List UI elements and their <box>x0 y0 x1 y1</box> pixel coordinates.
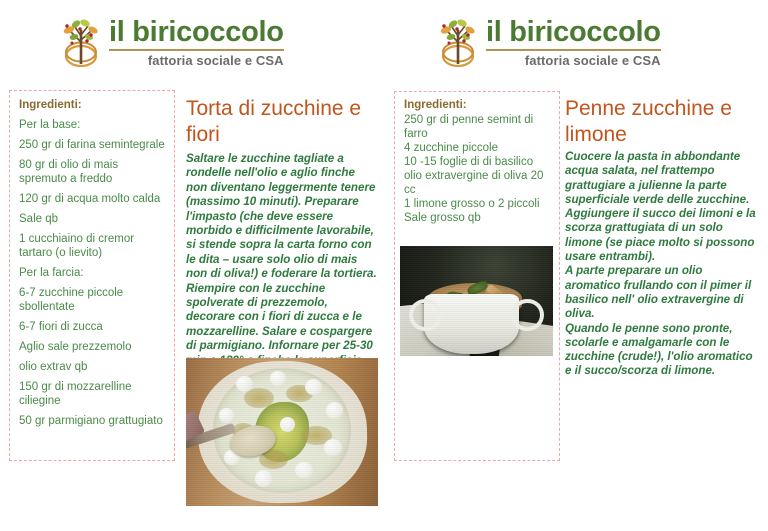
ingredient-item: Per la base: <box>19 118 167 132</box>
ingredients-heading: Ingredienti: <box>19 99 167 111</box>
ingredient-item: Aglio sale prezzemolo <box>19 340 167 354</box>
recipe-text-right: Penne zucchine e limone Cuocere la pasta… <box>565 96 761 379</box>
tree-plant-logo-icon <box>60 16 102 68</box>
recipe-page-right: il biricoccolo fattoria sociale e CSA In… <box>384 0 768 531</box>
ingredient-item: olio extravergine di oliva 20 cc <box>404 169 552 197</box>
ingredient-item: Sale grosso qb <box>404 211 552 225</box>
recipe-instructions: Cuocere la pasta in abbondante acqua sal… <box>565 150 761 379</box>
recipe-text-left: Torta di zucchine e fiori Saltare le zuc… <box>186 96 378 383</box>
ingredient-item: 1 cucchiaino di cremor tartaro (o lievit… <box>19 232 167 260</box>
ingredients-box-left: Ingredienti: Per la base: 250 gr di fari… <box>9 90 175 461</box>
ingredient-item: 250 gr di penne semint di farro <box>404 113 552 141</box>
brand-divider <box>109 49 284 51</box>
brand-title: il biricoccolo <box>486 17 661 47</box>
ingredient-item: Per la farcia: <box>19 266 167 280</box>
ingredient-item: 150 gr di mozzarelline ciliegine <box>19 380 167 408</box>
ingredient-item: Sale qb <box>19 212 167 226</box>
brand-logo-left: il biricoccolo fattoria sociale e CSA <box>60 16 284 68</box>
brand-subtitle: fattoria sociale e CSA <box>109 53 284 68</box>
ingredient-item: 1 limone grosso o 2 piccoli <box>404 197 552 211</box>
recipe-title: Torta di zucchine e fiori <box>186 96 378 148</box>
recipe-page-left: il biricoccolo fattoria sociale e CSA In… <box>0 0 384 531</box>
ingredient-item: olio extrav qb <box>19 360 167 374</box>
ingredients-heading: Ingredienti: <box>404 99 552 111</box>
ingredient-item: 10 -15 foglie di di basilico <box>404 155 552 169</box>
tree-plant-logo-icon <box>437 16 479 68</box>
ingredient-item: 120 gr di acqua molto calda <box>19 192 167 206</box>
ingredient-item: 80 gr di olio di mais spremuto a freddo <box>19 158 167 186</box>
brand-divider <box>486 49 661 51</box>
ingredient-item: 250 gr di farina semintegrale <box>19 138 167 152</box>
ingredient-item: 4 zucchine piccole <box>404 141 552 155</box>
zucchini-flower-tart-photo <box>186 358 378 506</box>
brand-subtitle: fattoria sociale e CSA <box>486 53 661 68</box>
recipe-instructions: Saltare le zucchine tagliate a rondelle … <box>186 152 378 383</box>
ingredient-item: 50 gr parmigiano grattugiato <box>19 414 167 428</box>
brand-title: il biricoccolo <box>109 17 284 47</box>
recipe-title: Penne zucchine e limone <box>565 96 761 148</box>
ingredient-item: 6-7 fiori di zucca <box>19 320 167 334</box>
penne-zucchine-limone-photo <box>400 246 553 356</box>
brand-logo-right: il biricoccolo fattoria sociale e CSA <box>437 16 661 68</box>
ingredient-item: 6-7 zucchine piccole sbollentate <box>19 286 167 314</box>
